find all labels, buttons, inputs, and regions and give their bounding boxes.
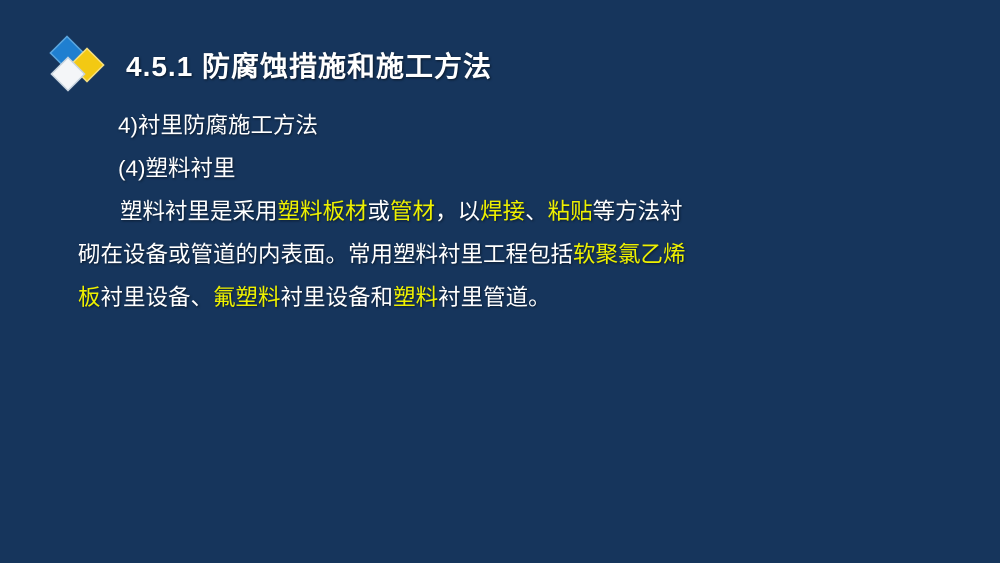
highlighted-term: 粘贴 (548, 199, 593, 224)
paragraph-text: 砌在设备或管道的内表面。常用塑料衬里工程包括 (78, 242, 573, 267)
slide-canvas: 4.5.1 防腐蚀措施和施工方法 4)衬里防腐施工方法 (4)塑料衬里 塑料衬里… (0, 0, 1000, 563)
body-heading-1: 4)衬里防腐施工方法 (78, 104, 718, 147)
highlighted-term: 管材 (390, 199, 435, 224)
highlighted-term: 塑料板材 (278, 199, 368, 224)
highlighted-term: 氟塑料 (213, 285, 281, 310)
paragraph-line: 板衬里设备、氟塑料衬里设备和塑料衬里管道。 (78, 276, 718, 319)
body-paragraph: 塑料衬里是采用塑料板材或管材，以焊接、粘贴等方法衬砌在设备或管道的内表面。常用塑… (78, 190, 718, 319)
body-heading-2: (4)塑料衬里 (78, 147, 718, 190)
paragraph-text: 衬里管道。 (438, 285, 551, 310)
slide-title-bar: 4.5.1 防腐蚀措施和施工方法 (52, 36, 492, 98)
highlighted-term: 塑料 (393, 285, 438, 310)
highlighted-term: 软聚氯乙烯 (573, 242, 686, 267)
paragraph-line: 塑料衬里是采用塑料板材或管材，以焊接、粘贴等方法衬 (78, 190, 718, 233)
highlighted-term: 焊接 (480, 199, 525, 224)
paragraph-line: 砌在设备或管道的内表面。常用塑料衬里工程包括软聚氯乙烯 (78, 233, 718, 276)
paragraph-text: 或 (368, 199, 391, 224)
slide-body: 4)衬里防腐施工方法 (4)塑料衬里 塑料衬里是采用塑料板材或管材，以焊接、粘贴… (78, 104, 718, 319)
paragraph-text: 衬里设备和 (281, 285, 394, 310)
page-title: 4.5.1 防腐蚀措施和施工方法 (126, 53, 492, 81)
highlighted-term: 板 (78, 285, 101, 310)
three-diamonds-logo-icon (52, 39, 110, 95)
paragraph-text: 等方法衬 (593, 199, 683, 224)
paragraph-text: 衬里设备、 (101, 285, 214, 310)
paragraph-text: ，以 (435, 199, 480, 224)
paragraph-text: 、 (525, 199, 548, 224)
paragraph-text: 塑料衬里是采用 (120, 199, 278, 224)
